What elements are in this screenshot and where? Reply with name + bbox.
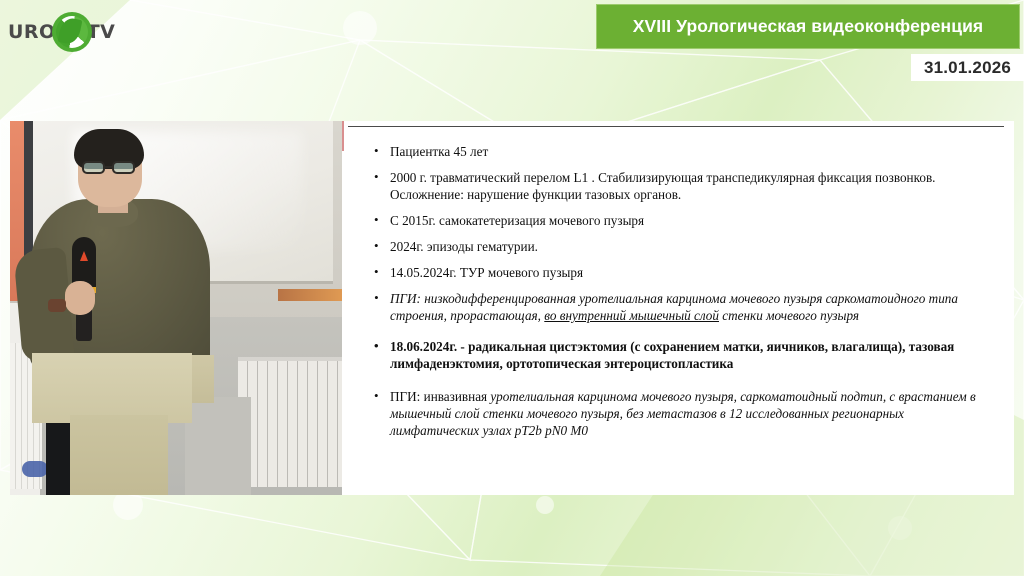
slide-bullet-pathology-first: ПГИ: низкодифференцированная уротелиальн… xyxy=(372,290,996,324)
slide-bullet-turbt-14-05-2024: 14.05.2024г. ТУР мочевого пузыря xyxy=(372,264,996,281)
eyeglasses-icon xyxy=(82,161,138,174)
slide-area: Пациентка 45 лет2000 г. травматический п… xyxy=(342,121,1014,495)
slide-bullet-patient-age: Пациентка 45 лет xyxy=(372,143,996,160)
urotv-emblem-icon xyxy=(52,12,92,52)
speaker-video-frame[interactable] xyxy=(10,121,342,495)
logo-text-uro: URO xyxy=(8,21,56,43)
conference-title-text: XVIII Урологическая видеоконференция xyxy=(633,16,984,37)
slide-bullet-pathology-second: ПГИ: инвазивная уротелиальная карцинома … xyxy=(372,388,996,439)
slide-bullet-self-catheterization-2015: С 2015г. самокатетеризация мочевого пузы… xyxy=(372,212,996,229)
date-badge: 31.01.2026 xyxy=(911,54,1024,81)
presentation-screen: URO TV XVIII Урологическая видеоконферен… xyxy=(0,0,1024,576)
urotv-logo: URO TV xyxy=(8,8,120,56)
content-panel: Пациентка 45 лет2000 г. травматический п… xyxy=(10,121,1014,495)
podium xyxy=(32,353,192,423)
radiator-right-icon xyxy=(238,361,342,487)
date-text: 31.01.2026 xyxy=(924,58,1011,78)
conference-title-banner: XVIII Урологическая видеоконференция xyxy=(596,4,1020,49)
slide-top-rule xyxy=(348,126,1004,127)
wristwatch-icon xyxy=(48,299,66,312)
slide-bullet-cystectomy-18-06-2024: 18.06.2024г. - радикальная цистэктомия (… xyxy=(372,338,996,372)
slide-left-accent xyxy=(342,121,344,151)
slide-bullet-trauma-2000: 2000 г. травматический перелом L1 . Стаб… xyxy=(372,169,996,203)
slide-bullet-hematuria-2024: 2024г. эпизоды гематурии. xyxy=(372,238,996,255)
slide-bullet-list: Пациентка 45 лет2000 г. травматический п… xyxy=(372,143,996,448)
